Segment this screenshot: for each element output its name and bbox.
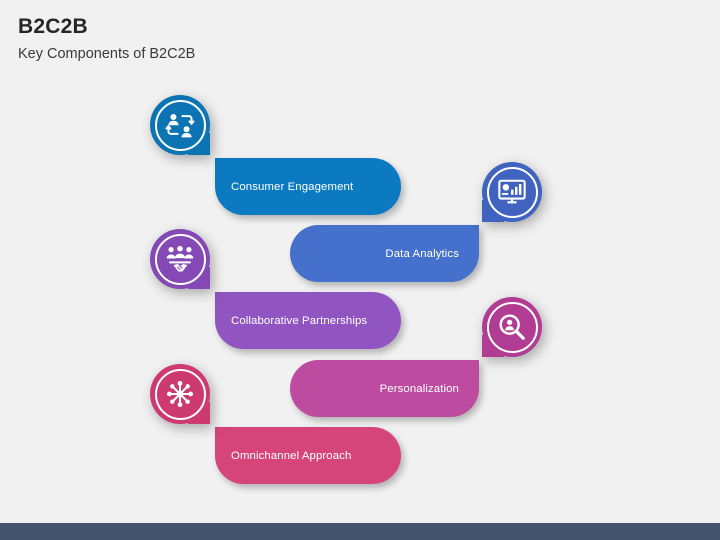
people-exchange-icon bbox=[165, 110, 195, 140]
component-bar[interactable]: Personalization bbox=[290, 360, 479, 417]
component-label: Consumer Engagement bbox=[231, 180, 353, 194]
component-label: Data Analytics bbox=[385, 247, 459, 261]
team-handshake-icon bbox=[165, 244, 195, 274]
slide-canvas: B2C2B Key Components of B2C2B Consumer E… bbox=[0, 0, 720, 540]
slide-header: B2C2B Key Components of B2C2B bbox=[18, 14, 618, 64]
component-icon-badge[interactable] bbox=[482, 297, 542, 357]
component-icon-badge[interactable] bbox=[150, 95, 210, 155]
component-label: Personalization bbox=[380, 382, 459, 396]
page-subtitle: Key Components of B2C2B bbox=[18, 44, 618, 64]
footer-accent-bar bbox=[0, 523, 720, 540]
component-bar[interactable]: Collaborative Partnerships bbox=[215, 292, 401, 349]
b2c2b-components-diagram: Consumer Engagement Data Analytics Colla… bbox=[0, 80, 720, 510]
person-magnifier-icon bbox=[497, 312, 527, 342]
component-bar[interactable]: Data Analytics bbox=[290, 225, 479, 282]
component-icon-badge[interactable] bbox=[150, 364, 210, 424]
page-title: B2C2B bbox=[18, 14, 618, 40]
component-label: Omnichannel Approach bbox=[231, 449, 351, 463]
component-icon-badge[interactable] bbox=[150, 229, 210, 289]
hub-network-icon bbox=[165, 379, 195, 409]
component-bar[interactable]: Consumer Engagement bbox=[215, 158, 401, 215]
component-label: Collaborative Partnerships bbox=[231, 314, 367, 328]
component-icon-badge[interactable] bbox=[482, 162, 542, 222]
dashboard-chart-monitor-icon bbox=[497, 177, 527, 207]
component-bar[interactable]: Omnichannel Approach bbox=[215, 427, 401, 484]
